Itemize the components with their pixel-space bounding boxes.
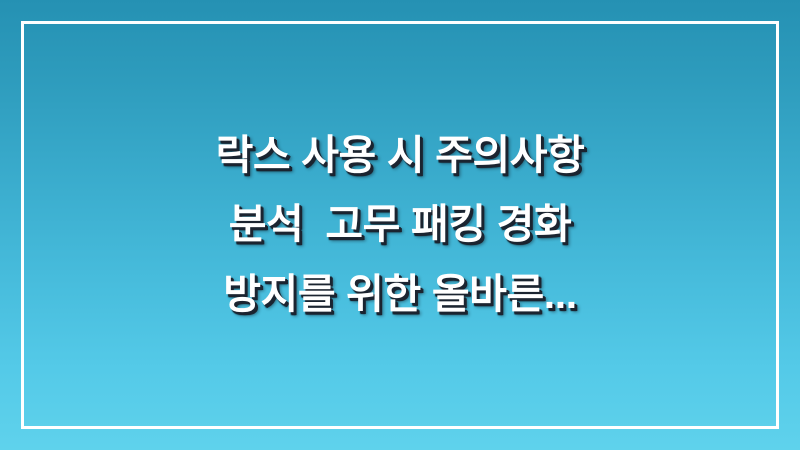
title-line-2: 분석 고무 패킹 경화 xyxy=(60,203,740,246)
title-line-1: 락스 사용 시 주의사항 xyxy=(60,134,740,177)
title-text-block: 락스 사용 시 주의사항 분석 고무 패킹 경화 방지를 위한 올바른... xyxy=(0,0,800,450)
title-card: 락스 사용 시 주의사항 분석 고무 패킹 경화 방지를 위한 올바른... xyxy=(0,0,800,450)
title-line-3: 방지를 위한 올바른... xyxy=(60,273,740,316)
